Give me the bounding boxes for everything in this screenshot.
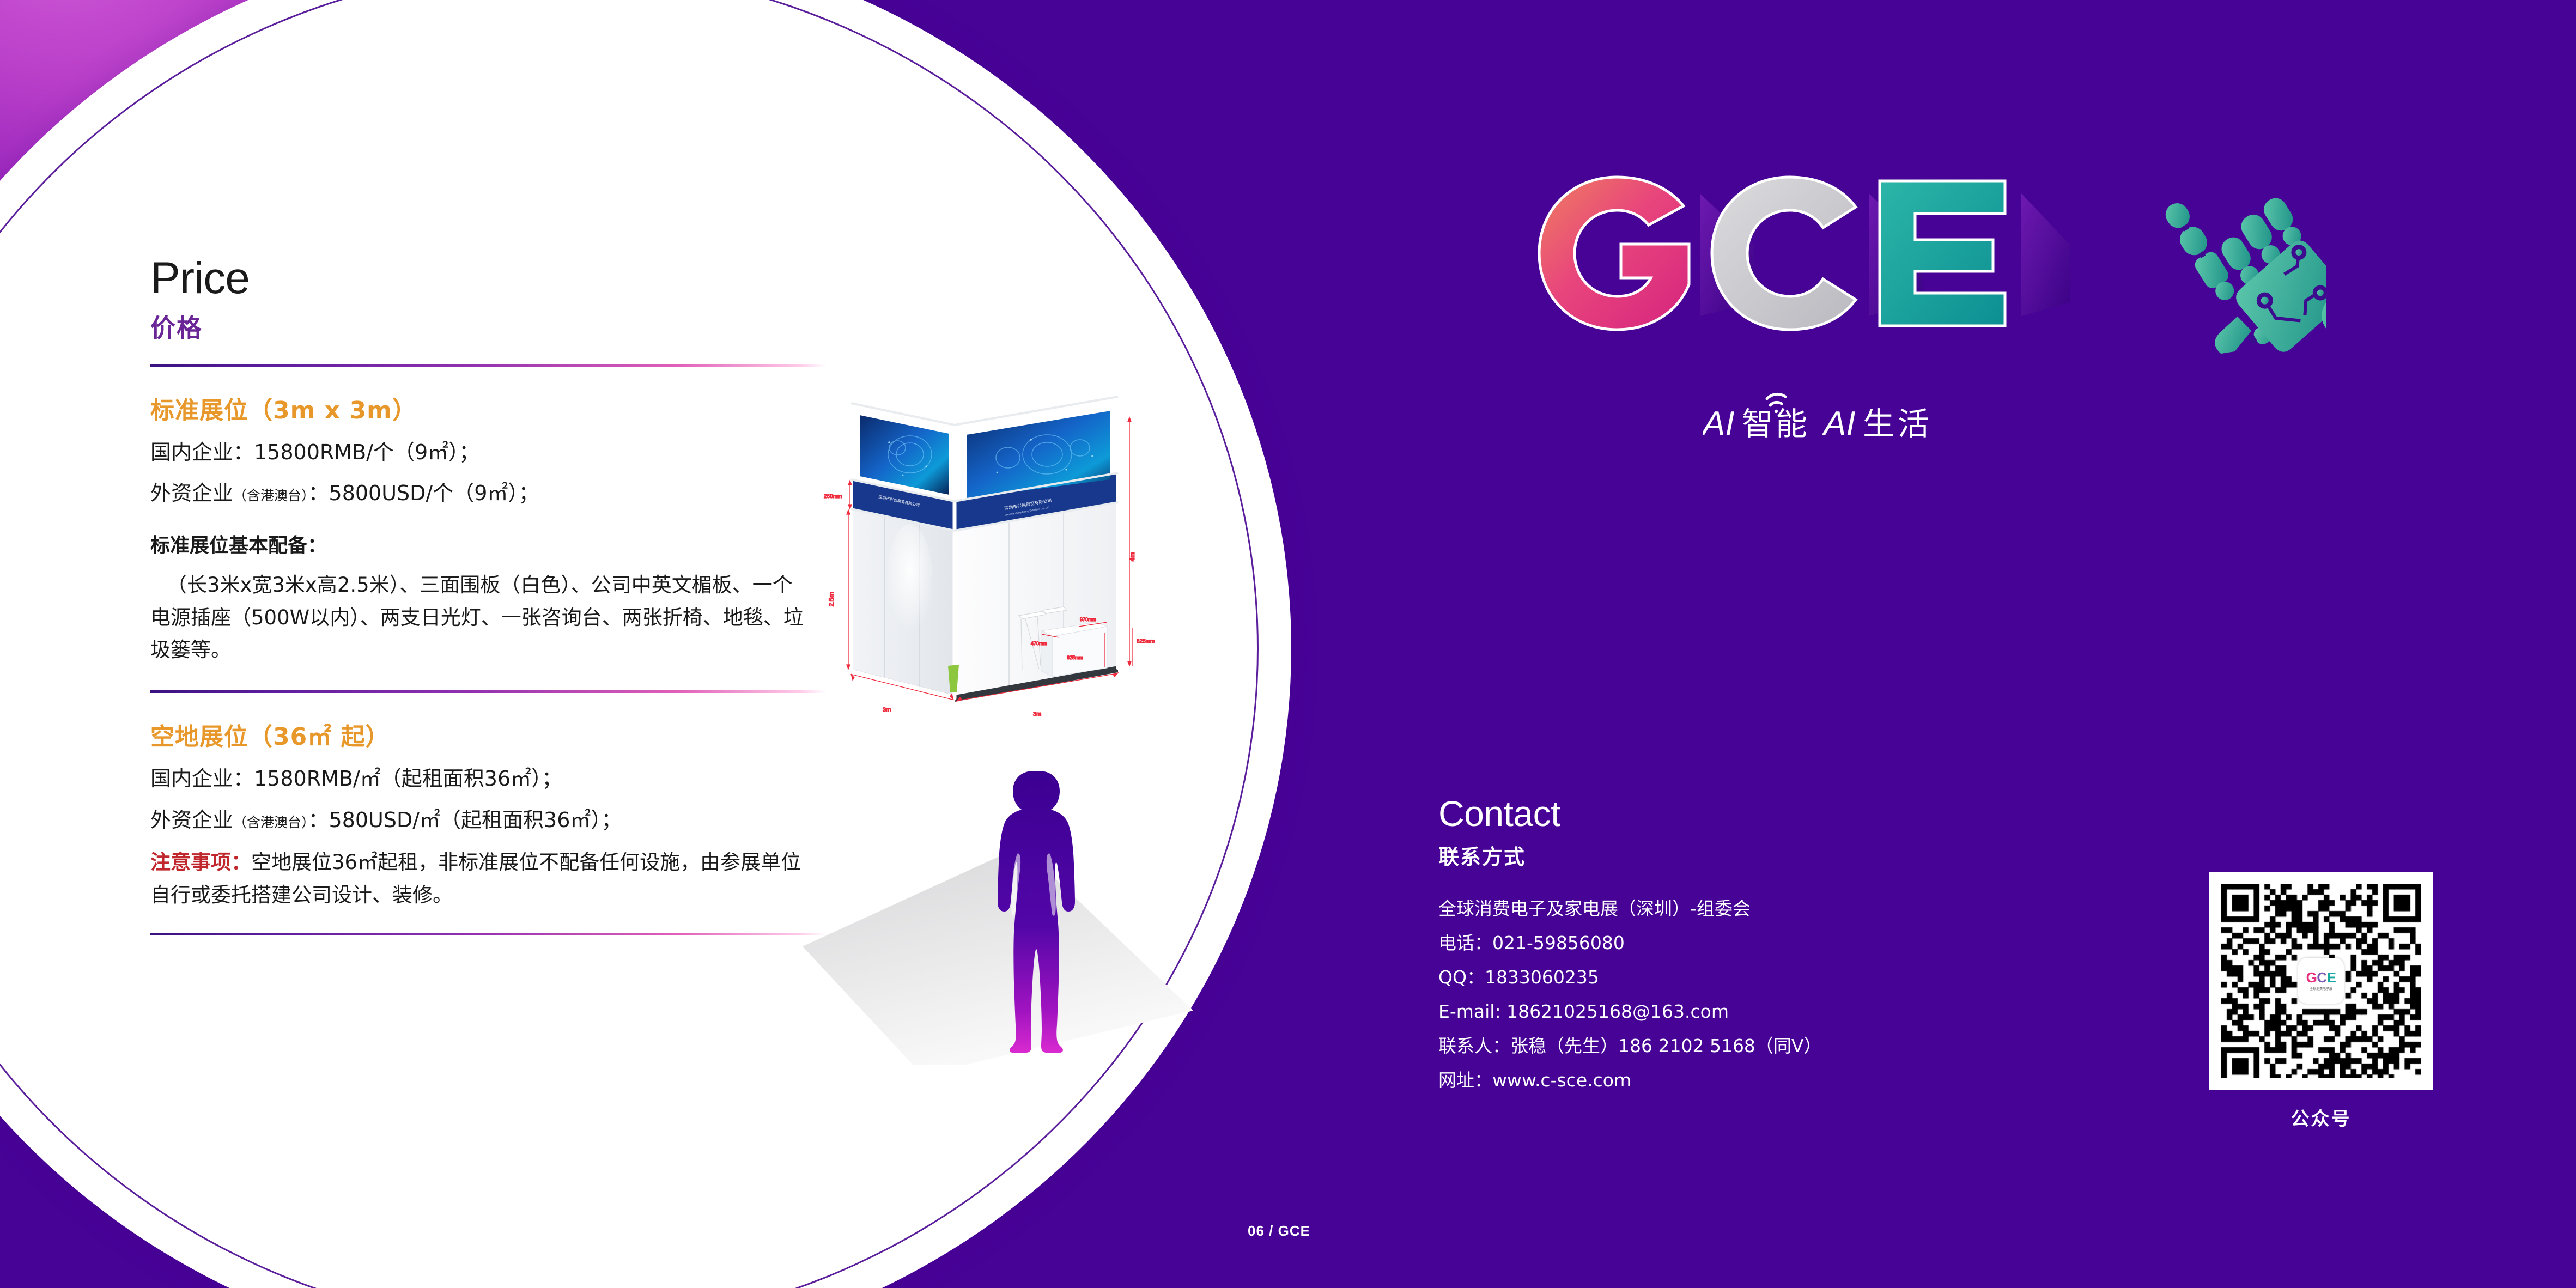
notice-paragraph: 注意事项：空地展位36㎡起租，非标准展位不配备任何设施，由参展单位自行或委托搭建… [150, 846, 812, 912]
contact-website[interactable]: 网址：www.c-sce.com [1438, 1071, 2147, 1089]
open-domestic-price: 国内企业：1580RMB/㎡（起租面积36㎡）； [150, 765, 831, 793]
page-title-cn: 价格 [150, 308, 831, 344]
contact-block: Contact 联系方式 全球消费电子及家电展（深圳）-组委会 电话：021-5… [1438, 795, 2147, 1105]
logo-tagline: AI 智能 AI 生活 [1703, 381, 2084, 447]
qr-center-logo: GCE 全球消费电子展 [2298, 958, 2344, 1004]
contact-organizer: 全球消费电子及家电展（深圳）-组委会 [1438, 900, 2147, 918]
qr-center-sub: 全球消费电子展 [2310, 986, 2332, 991]
svg-text:AI: AI [1821, 405, 1856, 442]
standard-foreign-label: 外资企业 [150, 481, 233, 505]
svg-text:625mm: 625mm [1137, 639, 1155, 645]
open-booth-heading: 空地展位（36㎡ 起） [150, 717, 831, 752]
person-scale-illustration [765, 738, 1256, 1065]
gce-logo [1520, 163, 2119, 343]
contact-email[interactable]: E-mail: 18621025168@163.com [1438, 1003, 2147, 1020]
svg-text:3m: 3m [1033, 711, 1041, 718]
logo-letter-c [1712, 177, 1856, 330]
equipment-text: （长3米x宽3米x高2.5米）、三面围板（白色）、公司中英文楣板、一个电源插座（… [150, 569, 812, 667]
contact-title-en: Contact [1438, 795, 2147, 831]
open-foreign-price: 外资企业（含港澳台）：580USD/㎡（起租面积36㎡）； [150, 806, 831, 834]
divider-bottom [150, 933, 826, 935]
svg-text:625mm: 625mm [1067, 655, 1083, 660]
gce-logo-svg [1520, 163, 2119, 343]
svg-text:4m: 4m [1128, 552, 1136, 562]
qr-card[interactable]: GCE 全球消费电子展 [2209, 872, 2433, 1090]
notice-label: 注意事项： [150, 850, 251, 874]
standard-booth-heading: 标准展位（3m x 3m） [150, 391, 831, 426]
contact-qq: QQ：1833060235 [1438, 968, 2147, 986]
booth-3d-render: 深圳市兴创展览有限公司 深圳市兴创展览有限公司 Shenzhen Xingchu… [791, 339, 1178, 726]
contact-phone: 电话：021-59856080 [1438, 934, 2147, 952]
person-scene-svg [765, 738, 1256, 1065]
open-foreign-value: ：580USD/㎡（起租面积36㎡）； [308, 808, 622, 832]
contact-title-cn: 联系方式 [1438, 840, 2147, 870]
open-foreign-label: 外资企业 [150, 808, 233, 832]
page-title-en: Price [150, 256, 831, 301]
equipment-heading: 标准展位基本配备： [150, 530, 831, 558]
price-content: Price 价格 标准展位（3m x 3m） 国内企业：15800RMB/个（9… [150, 256, 831, 935]
svg-text:2.5m: 2.5m [828, 592, 835, 607]
booth-diagram: 深圳市兴创展览有限公司 深圳市兴创展览有限公司 Shenzhen Xingchu… [791, 339, 1178, 726]
standard-domestic-price: 国内企业：15800RMB/个（9㎡）； [150, 439, 831, 466]
contact-person: 联系人：张稳（先生）186 2102 5168（同V） [1438, 1037, 2147, 1055]
standard-foreign-price: 外资企业（含港澳台）：5800USD/个（9㎡）； [150, 479, 831, 507]
divider-top [150, 364, 826, 367]
qr-center-letters: GCE [2306, 970, 2336, 985]
tagline-svg: AI 智能 AI 生活 [1703, 381, 2084, 447]
svg-text:AI: AI [1703, 405, 1735, 442]
robot-hand-icon [2141, 180, 2326, 409]
svg-text:970mm: 970mm [1080, 617, 1096, 622]
contact-rows: 全球消费电子及家电展（深圳）-组委会 电话：021-59856080 QQ：18… [1438, 900, 2147, 1089]
open-foreign-note: （含港澳台） [233, 815, 308, 830]
svg-text:470mm: 470mm [1031, 641, 1047, 646]
page-footer: 06 / GCE [1248, 1223, 1310, 1240]
divider-middle [150, 690, 826, 693]
qr-label: 公众号 [2209, 1104, 2433, 1131]
qr-block: GCE 全球消费电子展 公众号 [2209, 872, 2433, 1131]
svg-text:智能: 智能 [1742, 405, 1809, 442]
logo-letter-e [1880, 181, 2005, 326]
svg-text:3m: 3m [883, 707, 891, 713]
robot-hand-svg [2141, 180, 2326, 409]
logo-letter-g [1539, 177, 1689, 330]
svg-text:260mm: 260mm [824, 494, 842, 500]
standard-foreign-note: （含港澳台） [233, 488, 308, 503]
svg-text:生活: 生活 [1863, 405, 1933, 442]
standard-foreign-value: ：5800USD/个（9㎡）； [308, 481, 539, 505]
